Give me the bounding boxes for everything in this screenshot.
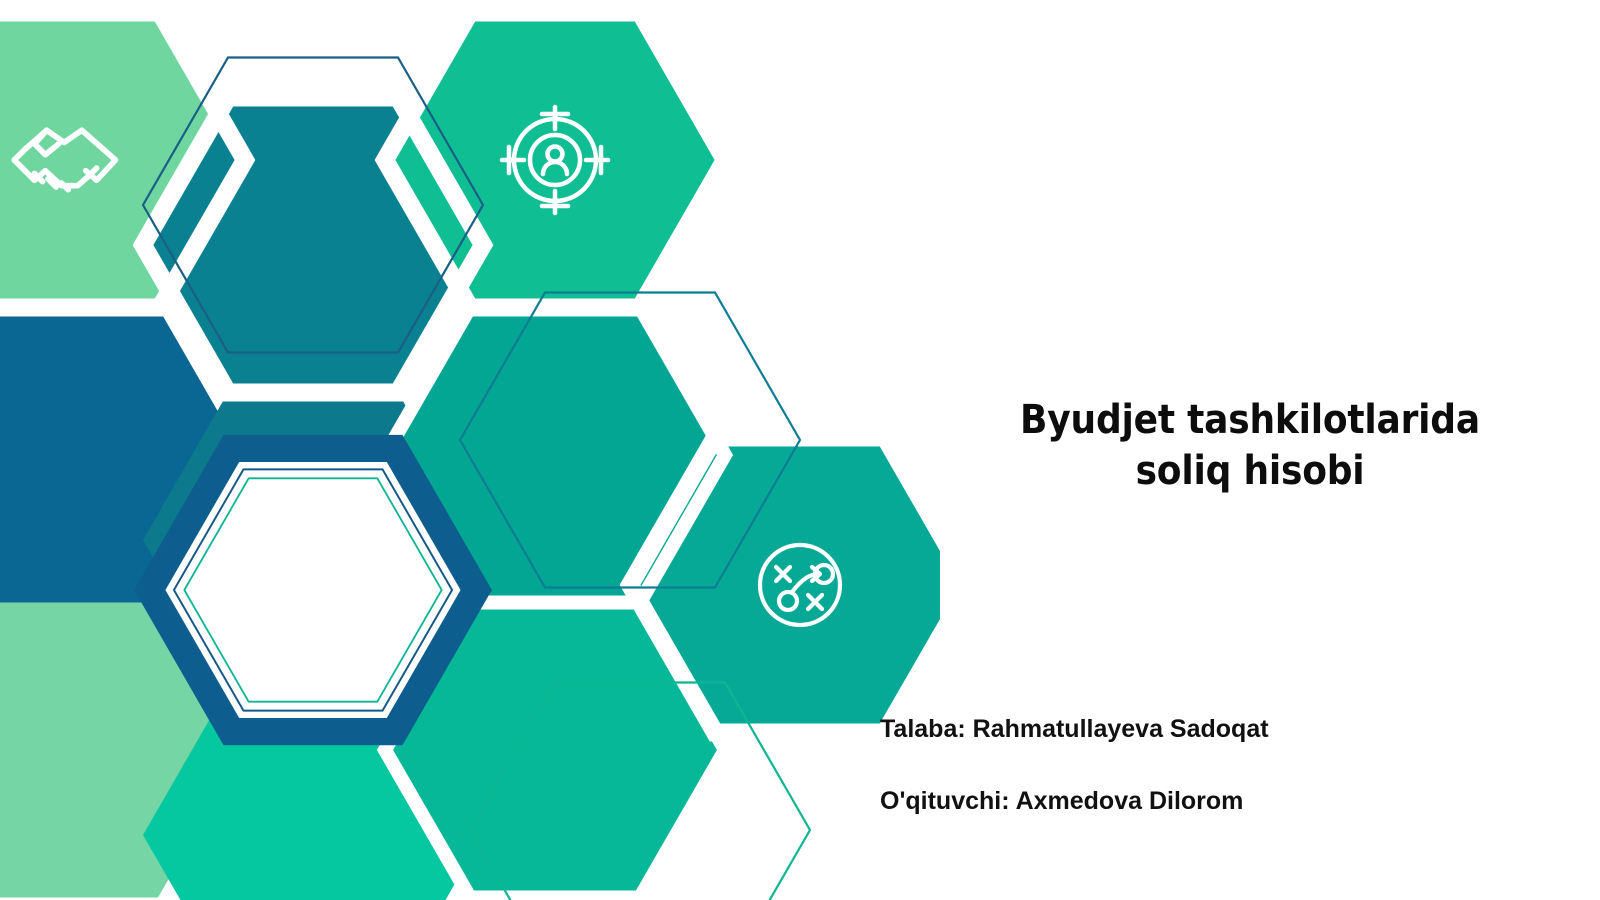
teacher-credit: O'qituvchi: Axmedova Dilorom (880, 787, 1580, 816)
slide-canvas: Byudjet tashkilotlarida soliq hisobi Tal… (0, 0, 1600, 900)
credits-block: Talaba: Rahmatullayeva Sadoqat O'qituvch… (880, 715, 1580, 859)
hex-center-frame (151, 449, 476, 731)
page-title: Byudjet tashkilotlarida soliq hisobi (940, 395, 1560, 497)
text-content-area: Byudjet tashkilotlarida soliq hisobi Tal… (880, 0, 1600, 900)
student-credit: Talaba: Rahmatullayeva Sadoqat (880, 715, 1580, 744)
title-block: Byudjet tashkilotlarida soliq hisobi (940, 395, 1560, 497)
hexagon-decoration-artwork (0, 0, 940, 900)
